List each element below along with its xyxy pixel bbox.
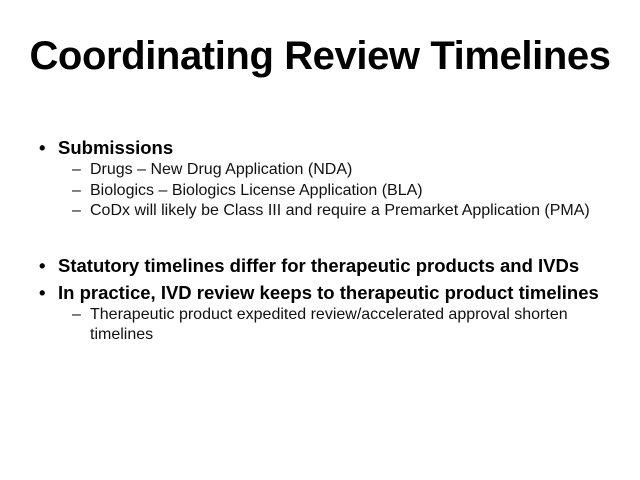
block-spacer <box>36 222 604 254</box>
page-title: Coordinating Review Timelines <box>0 33 640 79</box>
bullet-level2-drugs: – Drugs – New Drug Application (NDA) <box>36 160 604 181</box>
bullet-dash-icon: – <box>72 160 81 181</box>
bullet-dot-icon: • <box>39 136 45 159</box>
bullet-group-statutory: • Statutory timelines differ for therape… <box>36 254 604 277</box>
bullet-dash-icon: – <box>72 201 81 222</box>
bullet-level2-expedited-review: – Therapeutic product expedited review/a… <box>36 305 604 346</box>
slide-canvas: Coordinating Review Timelines • Submissi… <box>0 0 640 480</box>
bullet-level2-biologics: – Biologics – Biologics License Applicat… <box>36 181 604 202</box>
bullet-dash-icon: – <box>72 305 81 326</box>
bullet-group-in-practice: • In practice, IVD review keeps to thera… <box>36 281 604 346</box>
bullet-dot-icon: • <box>39 281 45 304</box>
bullet-dash-icon: – <box>72 181 81 202</box>
bullet-level1-statutory: • Statutory timelines differ for therape… <box>36 254 604 277</box>
bullet-level2-label: Biologics – Biologics License Applicatio… <box>90 182 423 199</box>
bullet-level2-label: Drugs – New Drug Application (NDA) <box>90 161 352 178</box>
bullet-level2-label: Therapeutic product expedited review/acc… <box>90 306 568 344</box>
bullet-dot-icon: • <box>39 254 45 277</box>
bullet-level1-label: Submissions <box>58 137 173 158</box>
bullet-level1-in-practice: • In practice, IVD review keeps to thera… <box>36 281 604 304</box>
bullet-level2-codx: – CoDx will likely be Class III and requ… <box>36 201 604 222</box>
bullet-level1-submissions: • Submissions <box>36 136 604 159</box>
bullet-level2-label: CoDx will likely be Class III and requir… <box>90 202 590 219</box>
bullet-level1-label: Statutory timelines differ for therapeut… <box>58 255 579 276</box>
slide-body-content: • Submissions – Drugs – New Drug Applica… <box>36 136 604 346</box>
bullet-level1-label: In practice, IVD review keeps to therape… <box>58 282 599 303</box>
bullet-group-submissions: • Submissions – Drugs – New Drug Applica… <box>36 136 604 222</box>
